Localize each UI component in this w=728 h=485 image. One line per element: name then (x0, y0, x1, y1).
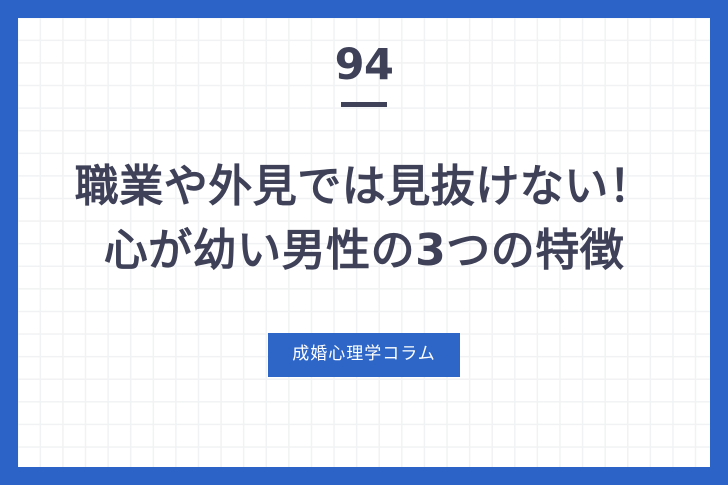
status-badge: 成婚心理学コラム (268, 333, 460, 377)
category-badge-container: 成婚心理学コラム (268, 333, 460, 377)
issue-number-block: 94 (335, 44, 394, 107)
divider-rule (341, 102, 387, 107)
card-inner-board: 94 職業や外見では見抜けない！ 心が幼い男性の3つの特徴 成婚心理学コラム (18, 18, 710, 467)
issue-number: 94 (335, 44, 394, 87)
headline-line-2: 心が幼い男性の3つの特徴 (75, 219, 654, 283)
headline-line-1: 職業や外見では見抜けない！ (75, 155, 654, 219)
article-thumbnail-card: 94 職業や外見では見抜けない！ 心が幼い男性の3つの特徴 成婚心理学コラム (0, 0, 728, 485)
page-title: 職業や外見では見抜けない！ 心が幼い男性の3つの特徴 (75, 155, 654, 283)
